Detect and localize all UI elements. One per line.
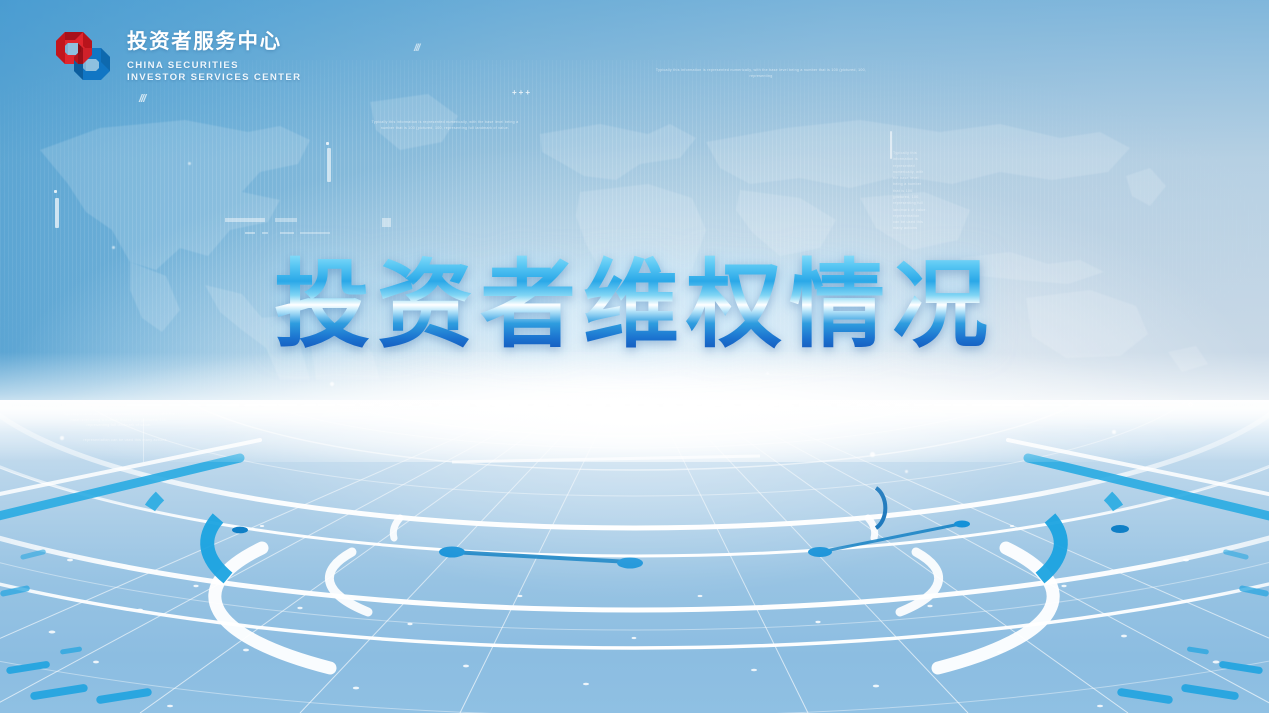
hud-bar-c: [245, 232, 255, 234]
plus-decor-row: +++: [512, 88, 532, 97]
sparkle: [766, 372, 769, 375]
decor-paragraph-mid-left: Typically this information is represente…: [370, 120, 520, 131]
interlocking-links-logo-icon: [45, 28, 114, 84]
decor-paragraph-top-right: Typically this information is represente…: [646, 68, 876, 79]
decor-paragraph-lower-left: Typically this information is represente…: [60, 412, 178, 429]
sparkle: [870, 452, 875, 457]
brand-logo-block[interactable]: 投资者服务中心 CHINA SECURITIES INVESTOR SERVIC…: [45, 28, 301, 85]
main-title-wrap: 投资者维权情况: [0, 252, 1269, 360]
decor-paragraph-lower-left-2: representation can be used this many act…: [72, 438, 178, 444]
hud-tick-mid: [326, 142, 329, 145]
sparkle: [1112, 430, 1116, 434]
brand-name-cn: 投资者服务中心: [127, 32, 301, 53]
hud-tick-left: [54, 190, 57, 193]
horizon-line: [0, 404, 1269, 406]
brand-name-en-line2: INVESTOR SERVICES CENTER: [127, 72, 301, 85]
hud-bar-a: [225, 218, 265, 222]
sparkle: [112, 246, 115, 249]
hud-vertical-bar-right: [890, 131, 892, 159]
slash-decor-top-left: ///: [414, 43, 419, 54]
sparkle: [1188, 402, 1193, 407]
hud-bar-b: [275, 218, 297, 222]
sparkle: [905, 470, 908, 473]
brand-name-en-line1: CHINA SECURITIES: [127, 60, 301, 73]
floor-center-glow: [0, 400, 1269, 713]
title-card-stage: 投资者服务中心 CHINA SECURITIES INVESTOR SERVIC…: [0, 0, 1269, 713]
perspective-floor: [0, 400, 1269, 713]
hud-square-a: [382, 218, 391, 227]
page-title: 投资者维权情况: [274, 252, 995, 360]
hud-bar-f: [300, 232, 330, 234]
brand-slash-mark: ///: [139, 93, 145, 105]
sparkle: [60, 436, 64, 440]
hud-vertical-bar-mid: [327, 148, 331, 182]
hud-divider-left: [143, 418, 144, 462]
sparkle: [330, 382, 334, 386]
hud-bar-d: [262, 232, 268, 234]
hud-vertical-bar-left: [55, 198, 59, 228]
brand-text-block: 投资者服务中心 CHINA SECURITIES INVESTOR SERVIC…: [127, 28, 301, 85]
brand-name-en: CHINA SECURITIES INVESTOR SERVICES CENTE…: [127, 60, 301, 85]
sparkle: [188, 162, 191, 165]
hud-bar-e: [280, 232, 294, 234]
decor-vertical-text-block: Typically this information is represente…: [893, 150, 927, 232]
